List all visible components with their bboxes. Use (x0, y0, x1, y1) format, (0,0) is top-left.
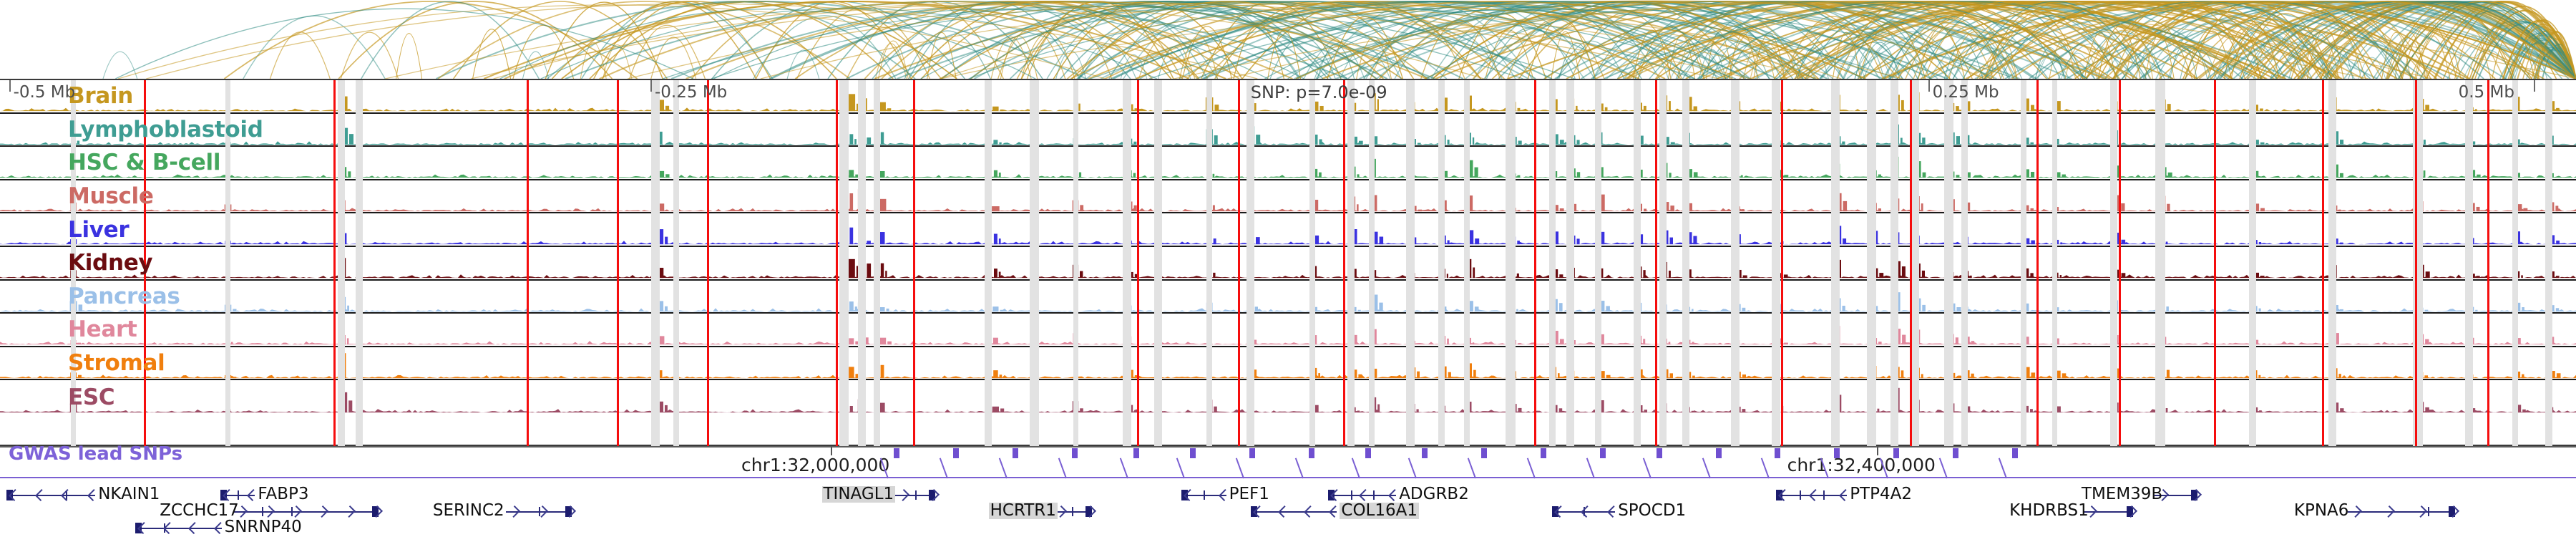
track-pancreas: Pancreas (0, 281, 2576, 314)
track-signal-profile (0, 213, 2576, 246)
gene-label: SNRNP40 (225, 519, 302, 536)
lollipop-head (1716, 448, 1722, 458)
gene-strand-arrow (188, 522, 200, 534)
lollipop-head (1133, 448, 1139, 458)
gene-label: TMEM39B (2082, 486, 2162, 503)
gene-row: ZCCHC17SERINC2HCRTR1COL16A1SPOCD1KHDRBS1… (0, 503, 2576, 520)
coordinate-label: chr1:32,400,000 (1787, 455, 1936, 475)
gene-label: FABP3 (258, 486, 308, 503)
chromatin-loop-arc (396, 34, 422, 79)
track-hsc-b-cell: HSC & B-cell (0, 147, 2576, 180)
lollipop-head (2012, 448, 2018, 458)
lollipop-stem (1295, 458, 1304, 478)
track-signal-profile (0, 314, 2576, 346)
lollipop-stem (1643, 458, 1652, 478)
coordinate-label: chr1:32,000,000 (741, 455, 889, 475)
gene-SERINC2[interactable]: SERINC2 (506, 503, 572, 520)
gene-label: ZCCHC17 (160, 503, 239, 519)
gwas-panel-title: GWAS lead SNPs (9, 443, 182, 465)
gene-strand-arrow (2350, 505, 2362, 518)
lollipop-stem (1998, 458, 2006, 478)
chromatin-loop-arcs-panel (0, 0, 2576, 79)
lollipop-stem (1408, 458, 1417, 478)
gene-exon-tick (1072, 507, 1073, 516)
track-signal-profile (0, 347, 2576, 379)
gene-strand-arrow (2415, 505, 2427, 518)
gene-PEF1[interactable]: PEF1 (1181, 487, 1226, 503)
gene-strand-arrow (1581, 505, 1593, 518)
gene-strand-arrow (35, 489, 47, 501)
axis-tick-mark (2534, 80, 2535, 92)
gene-annotation-panel: NKAIN1FABP3TINAGL1PEF1ADGRB2PTP4A2TMEM39… (0, 487, 2576, 537)
chromatin-loop-arc (224, 1, 637, 79)
lollipop-stem (1176, 458, 1185, 478)
track-stromal: Stromal (0, 347, 2576, 381)
gene-exon-tick (238, 490, 239, 500)
lollipop-stem (1120, 458, 1128, 478)
gene-label: KHDRBS1 (2009, 503, 2089, 519)
gene-strand-arrow (2383, 505, 2395, 518)
gene-strand-arrow (1304, 505, 1316, 518)
gene-TMEM39B[interactable]: TMEM39B (2155, 487, 2197, 503)
track-signal-profile (0, 80, 2576, 112)
gene-strand-arrow (343, 505, 356, 518)
gene-exon-tick (1204, 490, 1205, 500)
gene-COL16A1[interactable]: COL16A1 (1251, 503, 1337, 520)
gene-KHDRBS1[interactable]: KHDRBS1 (2083, 503, 2133, 520)
gene-exon-tick (1373, 490, 1375, 500)
lollipop-stem (1352, 458, 1360, 478)
axis-tick-mark (650, 80, 652, 92)
lollipop-head (1481, 448, 1487, 458)
gene-exon-tick (915, 490, 917, 500)
gene-strand-arrow (536, 505, 548, 518)
lollipop-head (953, 448, 959, 458)
lollipop-stem (1527, 458, 1536, 478)
lollipop-stem (1058, 458, 1066, 478)
lollipop-head (1893, 448, 1899, 458)
gene-strand-arrow (508, 505, 520, 518)
gene-label: PEF1 (1229, 486, 1269, 503)
gene-label: SPOCD1 (1618, 503, 1686, 519)
gene-body-line (2348, 511, 2454, 513)
chromatin-loop-arc (341, 32, 398, 79)
track-kidney: Kidney (0, 247, 2576, 281)
coordinate-axis-line (0, 446, 2576, 447)
gwas-lead-snps-panel: chr1:32,000,000chr1:32,400,000 GWAS lead… (0, 446, 2576, 487)
gene-PTP4A2[interactable]: PTP4A2 (1776, 487, 1847, 503)
lollipop-head (1249, 448, 1255, 458)
gene-exon-tick (2428, 507, 2429, 516)
lollipop-head (1013, 448, 1018, 458)
gene-label: COL16A1 (1340, 503, 1419, 519)
lollipop-stem (940, 458, 948, 478)
gene-exon-tick (1800, 490, 1801, 500)
gene-label: KPNA6 (2294, 503, 2349, 519)
gene-strand-arrow (1809, 489, 1821, 501)
lollipop-head (1365, 448, 1371, 458)
lollipop-head (1072, 448, 1078, 458)
track-signal-profile (0, 114, 2576, 146)
lollipop-stem (1761, 458, 1770, 478)
lollipop-head (1422, 448, 1428, 458)
track-lymphoblastoid: Lymphoblastoid (0, 114, 2576, 147)
lollipop-stem (1468, 458, 1476, 478)
gene-strand-arrow (897, 489, 909, 501)
gene-strand-arrow (1359, 489, 1371, 501)
lollipop-head (1953, 448, 1958, 458)
gene-strand-arrow (316, 505, 328, 518)
track-signal-profile (0, 247, 2576, 279)
gene-strand-arrow (263, 505, 275, 518)
lollipop-stem (1586, 458, 1594, 478)
gene-label: TINAGL1 (822, 486, 896, 503)
lollipop-head (1190, 448, 1196, 458)
lollipop-head (1600, 448, 1606, 458)
gene-strand-arrow (1278, 505, 1290, 518)
lollipop-stem (1702, 458, 1710, 478)
gene-SNRNP40[interactable]: SNRNP40 (135, 520, 222, 536)
track-liver: Liver (0, 213, 2576, 247)
track-brain: Brain (0, 80, 2576, 114)
gene-exon-tick (1351, 490, 1352, 500)
lollipop-head (1775, 448, 1780, 458)
lollipop-stem (999, 458, 1008, 478)
track-signal-profile (0, 180, 2576, 213)
gene-SPOCD1[interactable]: SPOCD1 (1552, 503, 1615, 520)
track-rows: BrainLymphoblastoidHSC & B-cellMuscleLiv… (0, 80, 2576, 414)
track-signal-profile (0, 281, 2576, 313)
genome-browser-view: BrainLymphoblastoidHSC & B-cellMuscleLiv… (0, 0, 2576, 537)
gene-label: ADGRB2 (1399, 486, 1469, 503)
gene-label: HCRTR1 (989, 503, 1058, 519)
gene-label: PTP4A2 (1850, 486, 1912, 503)
gene-exon-tick (1823, 490, 1825, 500)
gene-TINAGL1[interactable]: TINAGL1 (895, 487, 935, 503)
epigenome-tracks-panel: BrainLymphoblastoidHSC & B-cellMuscleLiv… (0, 79, 2576, 446)
gene-NKAIN1[interactable]: NKAIN1 (6, 487, 95, 503)
track-heart: Heart (0, 314, 2576, 347)
gwas-baseline (0, 477, 2576, 478)
gene-label: NKAIN1 (98, 486, 160, 503)
chromatin-loop-arc (876, 44, 907, 79)
lollipop-head (1541, 448, 1546, 458)
lollipop-head (1834, 448, 1840, 458)
gene-body-line (233, 511, 379, 513)
gene-row: SNRNP40 (0, 520, 2576, 536)
lollipop-head (1657, 448, 1662, 458)
gene-row: NKAIN1FABP3TINAGL1PEF1ADGRB2PTP4A2TMEM39… (0, 487, 2576, 503)
gene-KPNA6[interactable]: KPNA6 (2348, 503, 2454, 520)
lollipop-stem (1236, 458, 1244, 478)
arc-svg (0, 0, 2576, 79)
track-signal-profile (0, 380, 2576, 414)
lollipop-stem (1939, 458, 1948, 478)
axis-tick-mark (1928, 80, 1930, 92)
lollipop-head (894, 448, 899, 458)
gene-strand-arrow (61, 489, 73, 501)
track-muscle: Muscle (0, 180, 2576, 214)
track-signal-profile (0, 147, 2576, 179)
track-esc: ESC (0, 380, 2576, 414)
gene-HCRTR1[interactable]: HCRTR1 (1053, 503, 1093, 520)
axis-tick-mark (9, 80, 11, 92)
gene-label: SERINC2 (433, 503, 504, 519)
lollipop-head (1309, 448, 1314, 458)
